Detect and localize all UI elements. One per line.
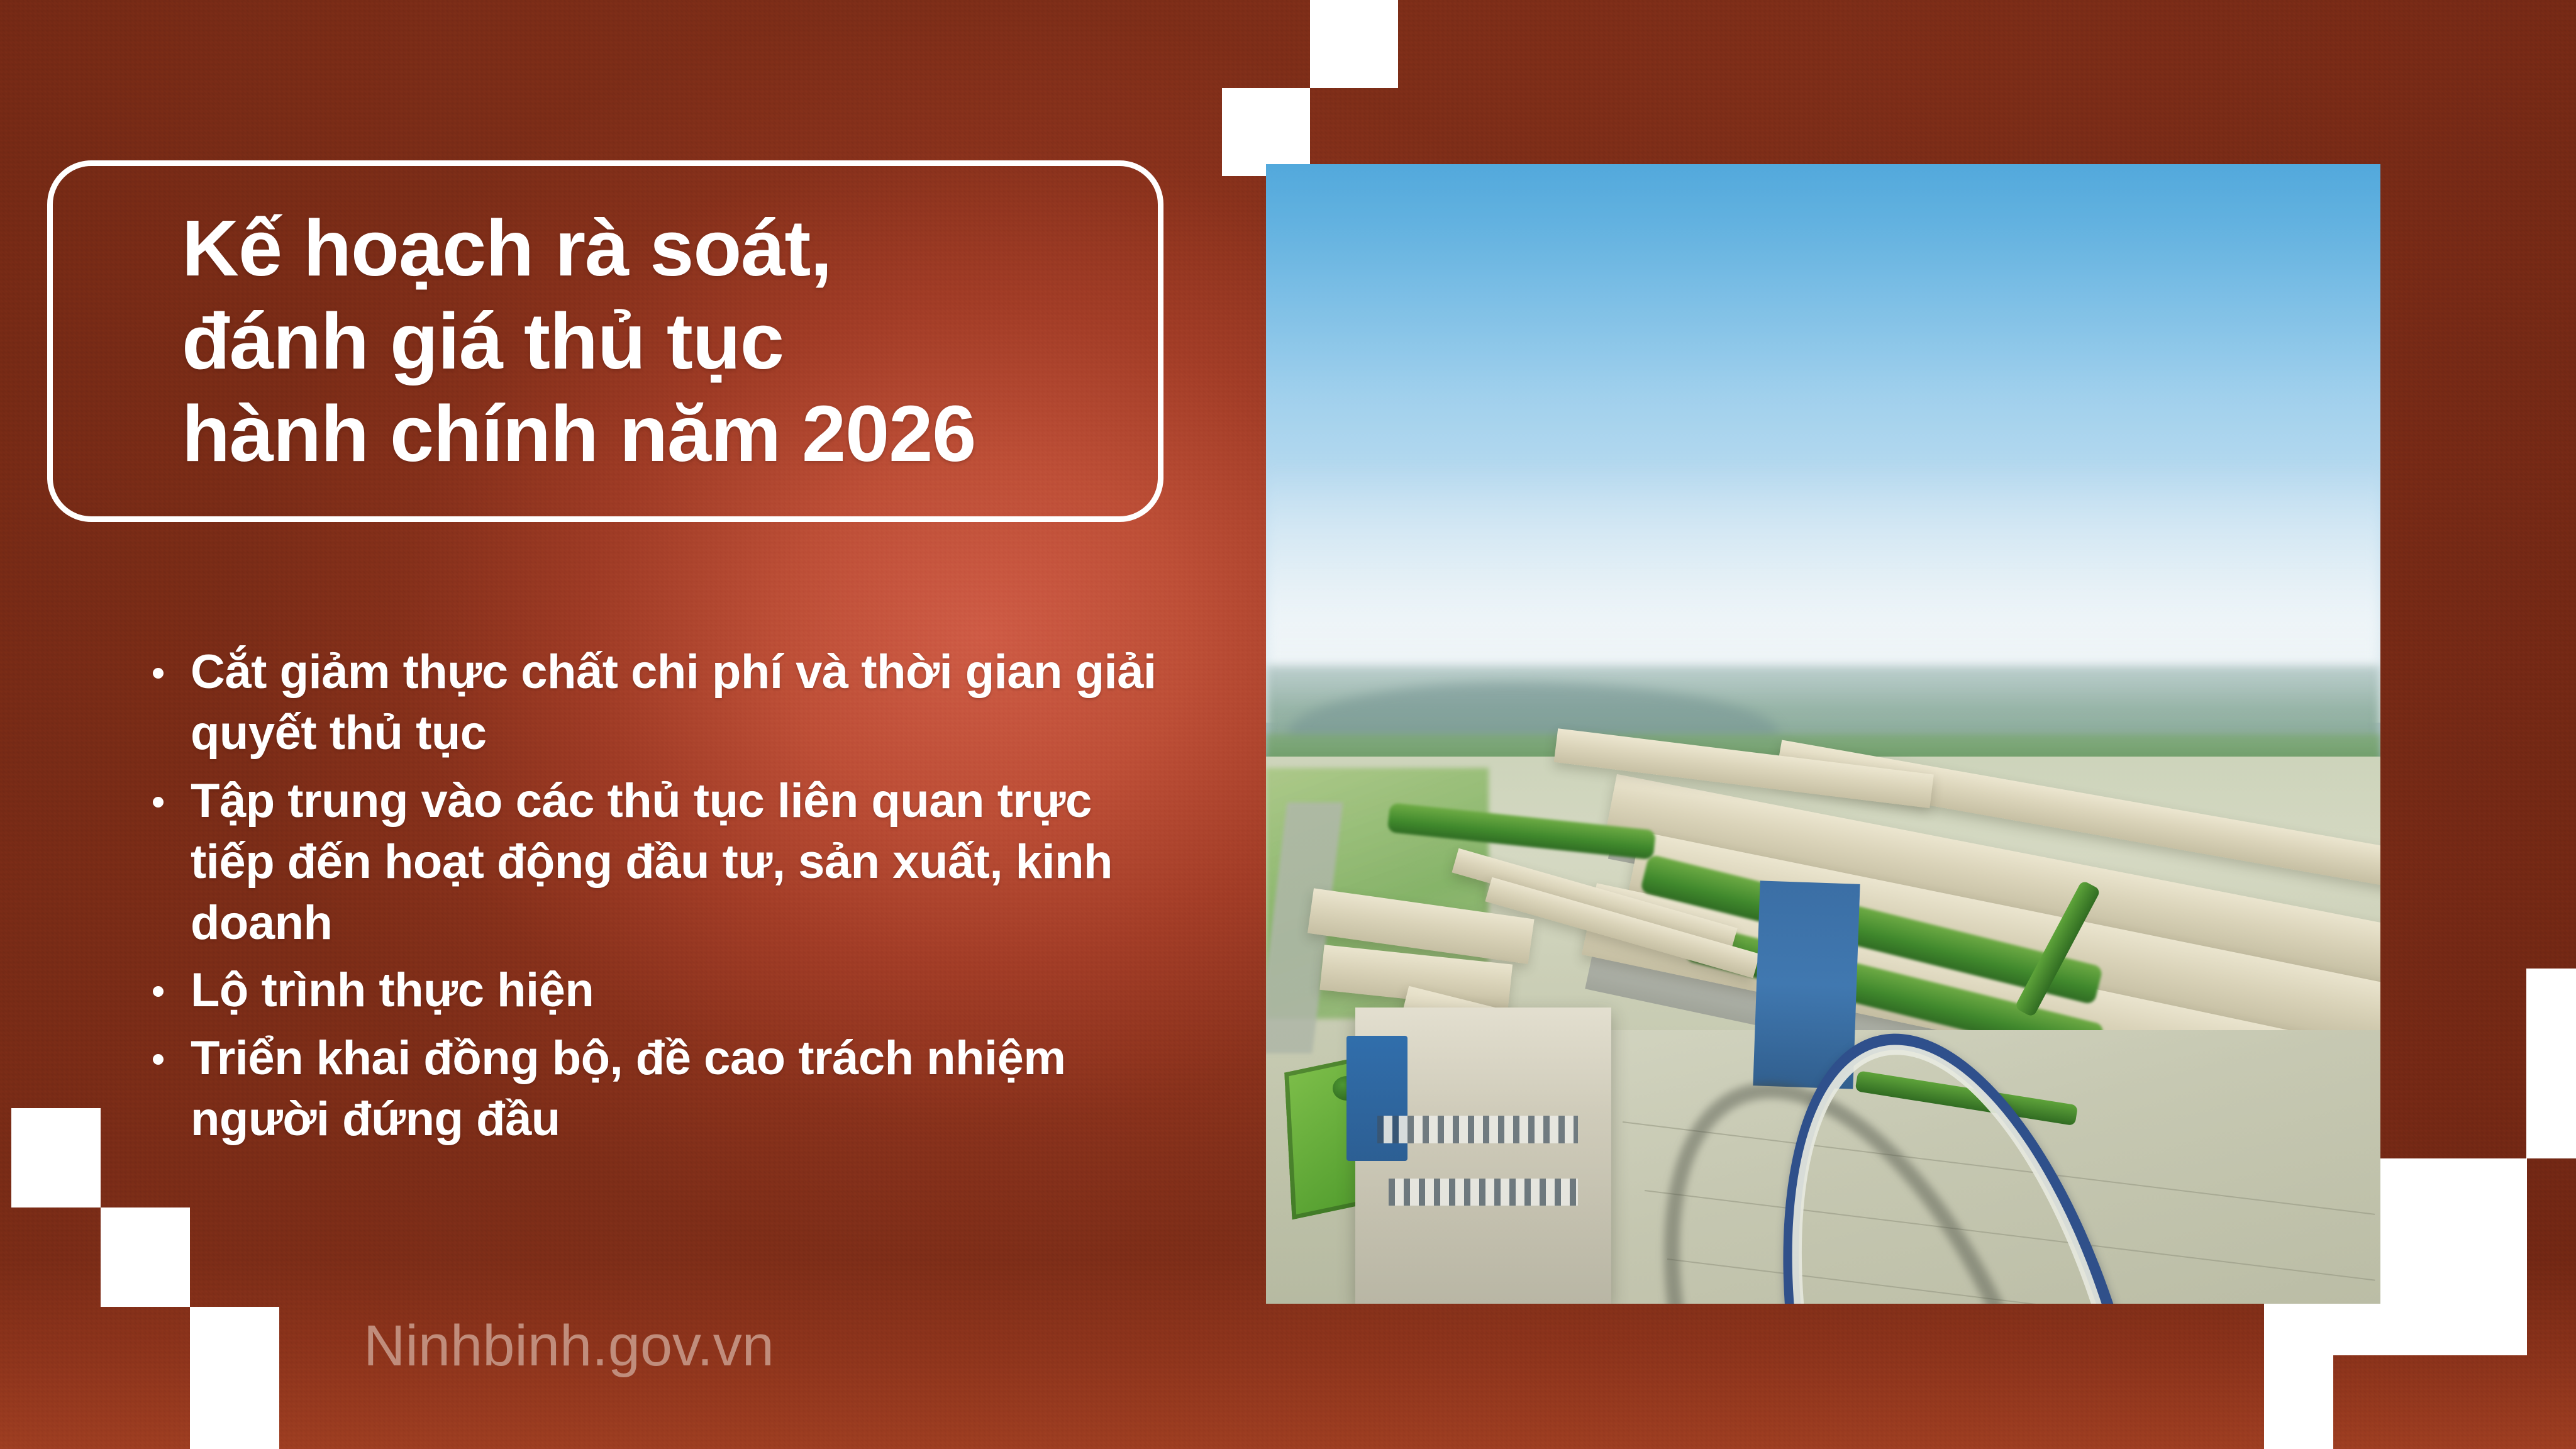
decor-square-bottom-left-2: [101, 1207, 190, 1307]
decor-square-bottom-left-1: [11, 1108, 101, 1207]
photo-scene: [1266, 164, 2380, 1304]
decor-square-bottom-right-4: [2264, 1355, 2333, 1449]
slide-title: Kế hoạch rà soát, đánh giá thủ tục hành …: [182, 202, 975, 480]
list-item: Lộ trình thực hiện: [142, 960, 1160, 1021]
bullet-list: Cắt giảm thực chất chi phí và thời gian …: [142, 641, 1160, 1156]
list-item: Triển khai đồng bộ, đề cao trách nhiệm n…: [142, 1028, 1160, 1150]
photo-window-row: [1389, 1179, 1578, 1206]
decor-square-bottom-right-3: [2264, 1304, 2381, 1355]
decor-square-top-right-2: [1222, 88, 1310, 176]
decor-square-bottom-left-3: [190, 1307, 279, 1449]
footer-source-url: Ninhbinh.gov.vn: [364, 1313, 774, 1379]
decor-square-bottom-right-2: [2380, 1158, 2527, 1355]
decor-square-top-right-1: [1310, 0, 1398, 88]
title-card: Kế hoạch rà soát, đánh giá thủ tục hành …: [47, 160, 1163, 522]
list-item: Cắt giảm thực chất chi phí và thời gian …: [142, 641, 1160, 764]
decor-square-bottom-right-1: [2526, 969, 2576, 1158]
list-item: Tập trung vào các thủ tục liên quan trực…: [142, 770, 1160, 954]
industrial-park-photo: [1266, 164, 2380, 1304]
slide-canvas: Kế hoạch rà soát, đánh giá thủ tục hành …: [0, 0, 2576, 1449]
photo-window-row: [1377, 1116, 1578, 1143]
